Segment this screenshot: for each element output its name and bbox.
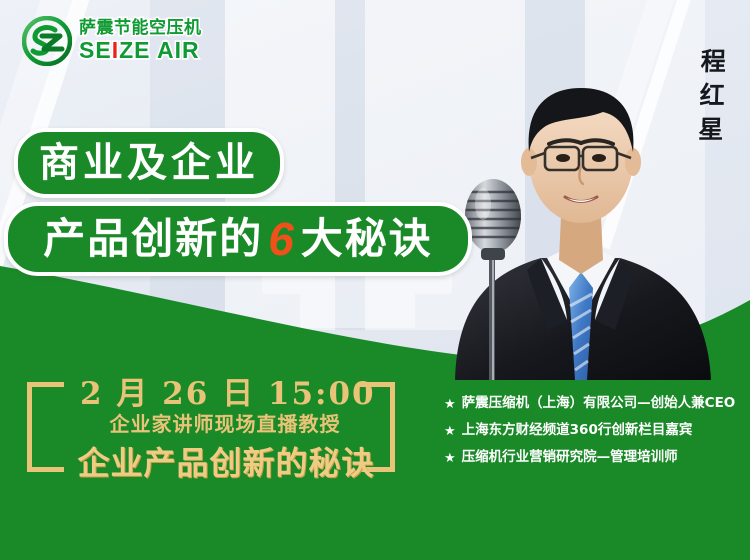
headline-pill-2: 产品创新的6大秘诀 <box>4 202 472 276</box>
speaker-credentials-list: ★ 萨震压缩机（上海）有限公司—创始人兼CEO ★ 上海东方财经频道360行创新… <box>444 395 744 476</box>
speaker-name-vertical: 程红星 <box>696 48 725 150</box>
seize-air-sz-circle-logo-icon <box>22 16 72 66</box>
event-topic: 企业产品创新的秘诀 <box>58 438 394 484</box>
event-datetime: 2 月 26 日 15:00 <box>80 368 370 413</box>
star-icon: ★ <box>444 395 456 412</box>
brand-logo[interactable]: 萨震节能空压机 SEIZE AIR <box>22 16 202 66</box>
brand-logo-text: 萨震节能空压机 SEIZE AIR <box>79 20 202 62</box>
list-item: ★ 压缩机行业营销研究院—管理培训师 <box>444 449 744 466</box>
speaker-portrait <box>415 20 745 380</box>
headline-line-2-after: 大秘诀 <box>301 218 433 260</box>
brand-name-en-part1: SE <box>79 37 112 63</box>
event-info-block: 2 月 26 日 15:00 企业家讲师现场直播教授 企业产品创新的秘诀 <box>20 368 420 488</box>
poster-canvas: 萨震节能空压机 SEIZE AIR 程红星 商业及企业 产品创新的6大秘诀 2 … <box>0 0 750 560</box>
list-item: ★ 上海东方财经频道360行创新栏目嘉宾 <box>444 422 744 439</box>
credential-text: 上海东方财经频道360行创新栏目嘉宾 <box>462 422 693 439</box>
star-icon: ★ <box>444 422 456 439</box>
credential-text: 压缩机行业营销研究院—管理培训师 <box>462 449 678 466</box>
list-item: ★ 萨震压缩机（上海）有限公司—创始人兼CEO <box>444 395 744 412</box>
brand-name-cn: 萨震节能空压机 <box>79 20 202 37</box>
brand-name-en-accent: I <box>112 37 119 63</box>
brand-name-en-part2: ZE AIR <box>119 37 200 63</box>
event-subtitle: 企业家讲师现场直播教授 <box>80 408 370 437</box>
headline-line-1: 商业及企业 <box>39 143 259 183</box>
headline-line-2-before: 产品创新的 <box>43 218 263 260</box>
brand-name-en: SEIZE AIR <box>79 39 202 62</box>
headline-pill-1: 商业及企业 <box>14 128 284 198</box>
star-icon: ★ <box>444 449 456 466</box>
headline-number-six: 6 <box>263 216 301 262</box>
credential-text: 萨震压缩机（上海）有限公司—创始人兼CEO <box>462 395 736 412</box>
